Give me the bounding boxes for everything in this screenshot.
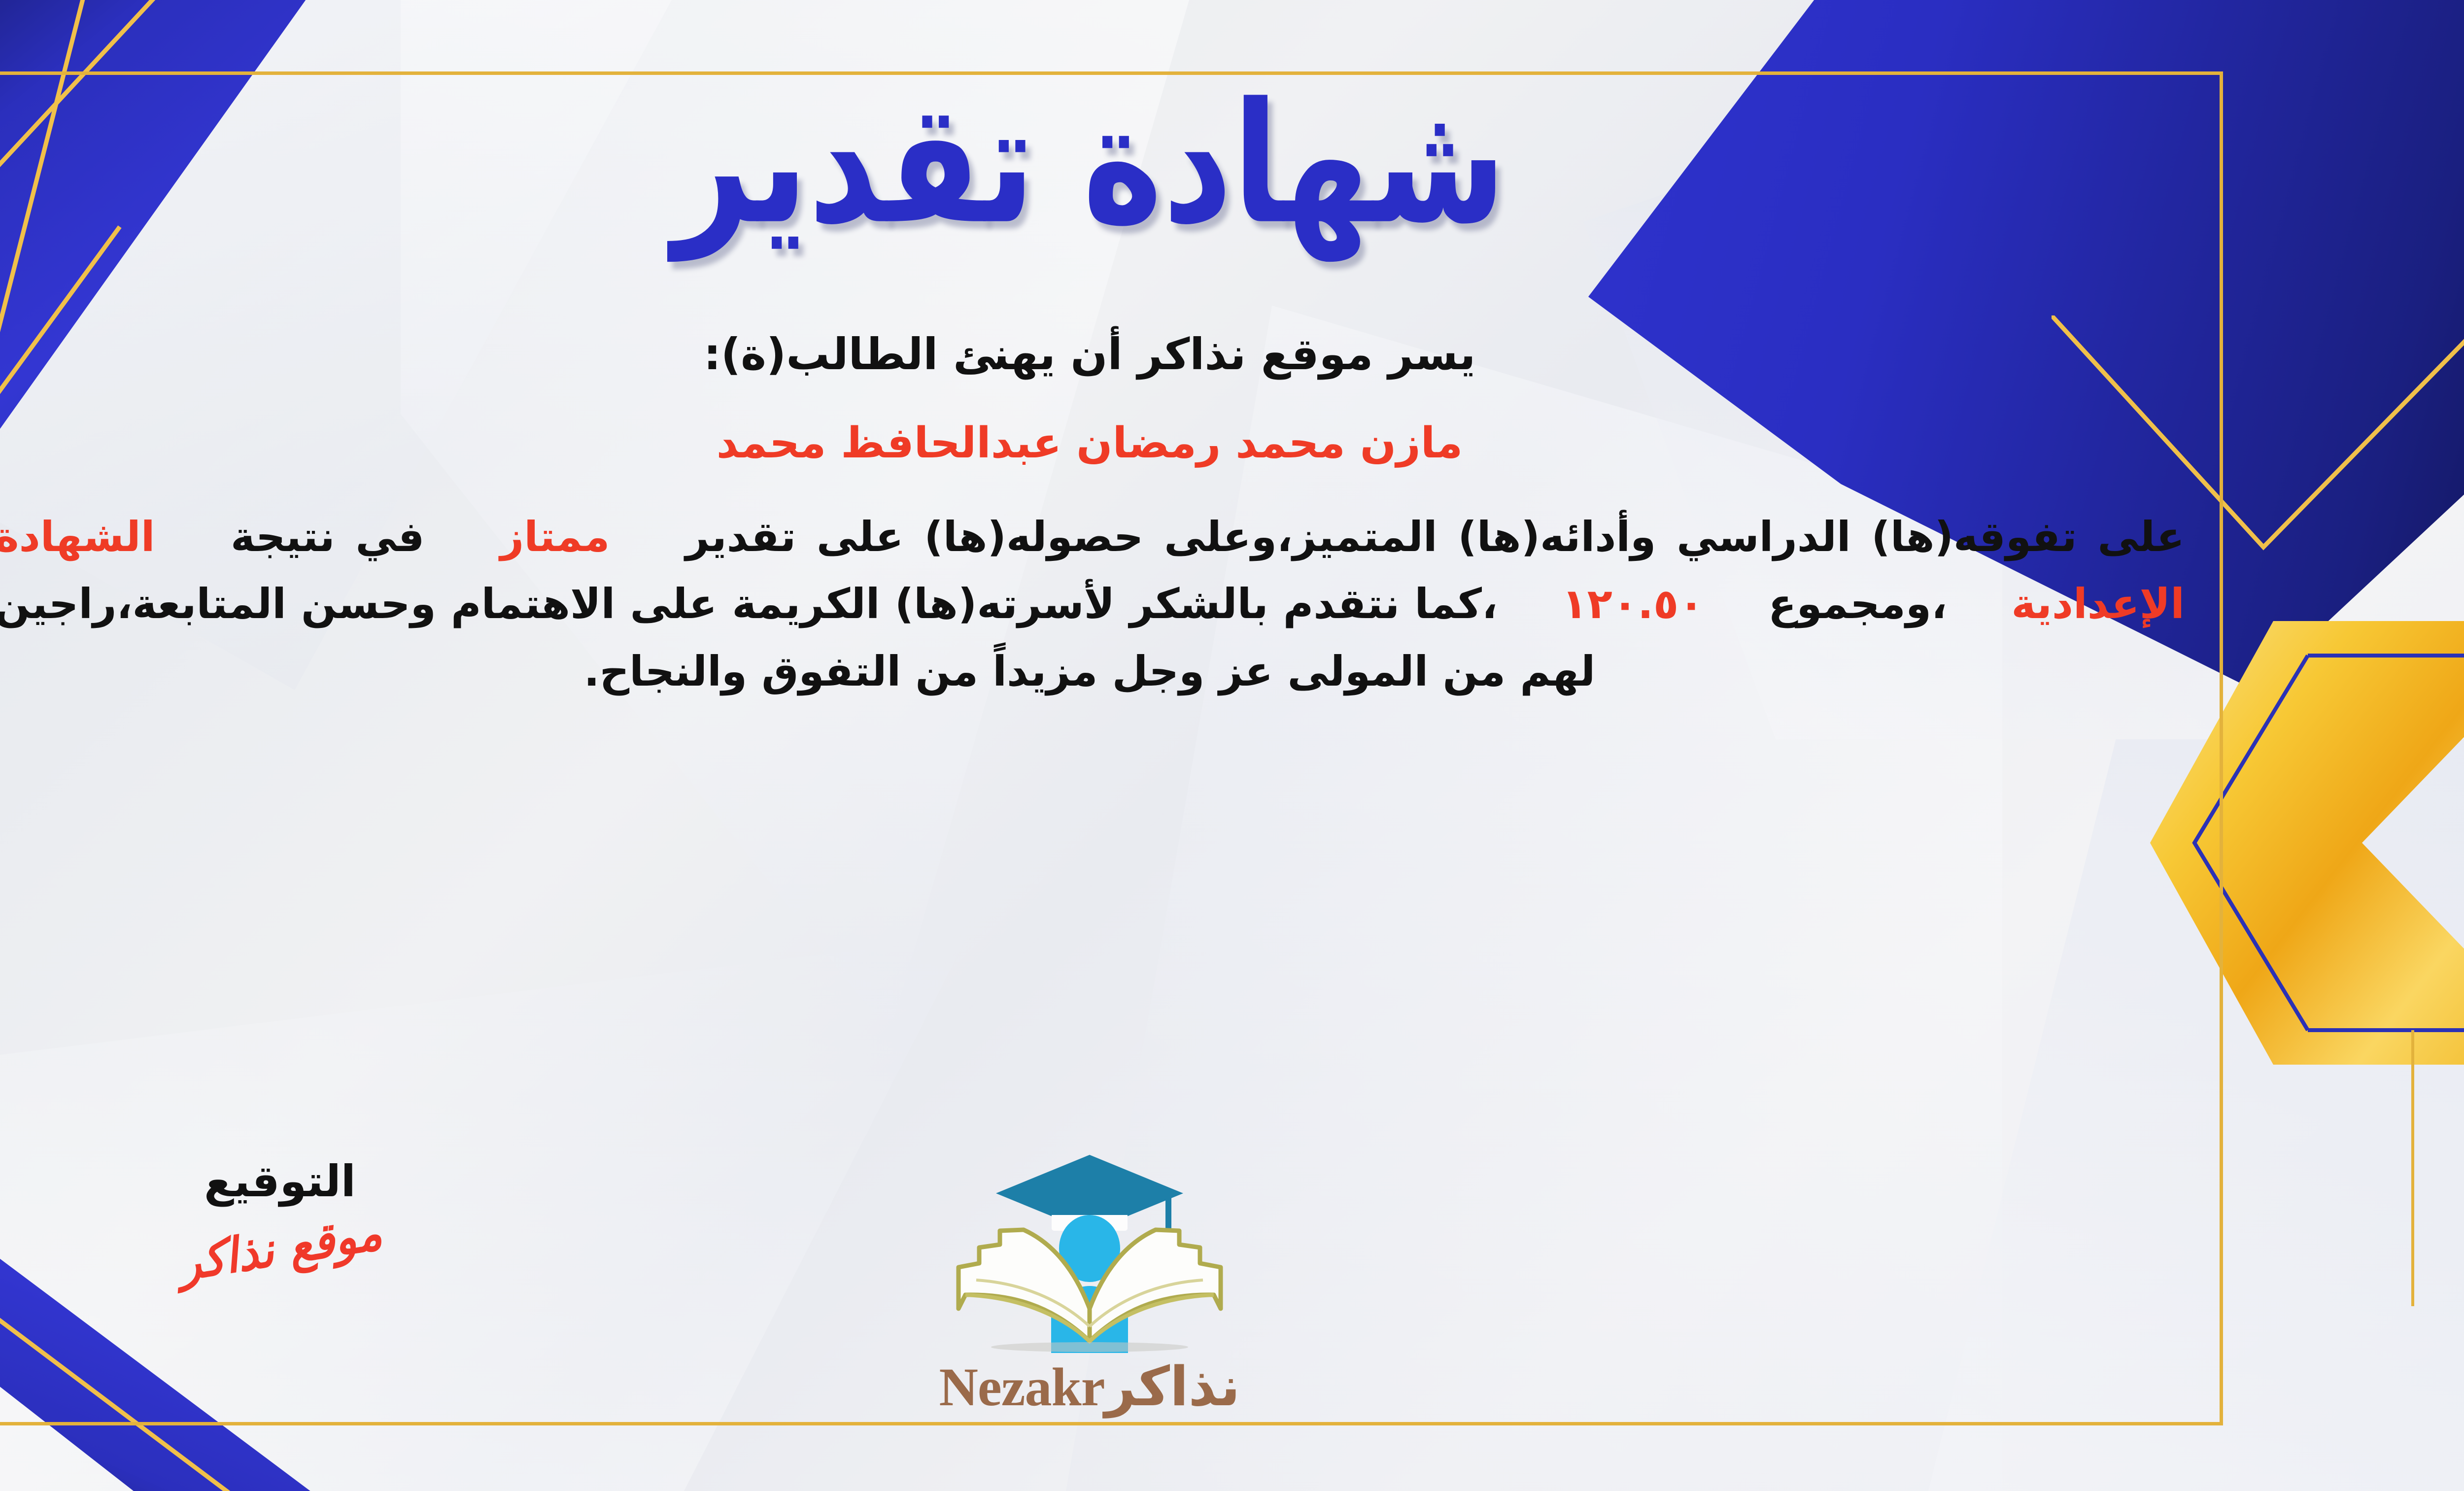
graduate-book-logo-icon xyxy=(937,1146,1242,1353)
paragraph-part-2: في نتيجة xyxy=(231,513,424,561)
student-name: مازن محمد رمضان عبدالحافظ محمد xyxy=(0,410,2193,477)
certificate-body: يسر موقع نذاكر أن يهنئ الطالب(ة): مازن م… xyxy=(0,320,2193,705)
achievement-paragraph: على تفوقه(ها) الدراسي وأدائه(ها) المتميز… xyxy=(0,503,2193,704)
paragraph-part-3: ،ومجموع xyxy=(1768,580,1947,628)
certificate-content: شهادة تقدير يسر موقع نذاكر أن يهنئ الطال… xyxy=(0,71,2220,1422)
certificate-canvas: شهادة تقدير يسر موقع نذاكر أن يهنئ الطال… xyxy=(0,0,2464,1491)
frame-line-bottom xyxy=(0,1422,2223,1425)
grade-value: ممتاز xyxy=(500,513,610,561)
site-logo: نذاكرNezakr xyxy=(843,1146,1336,1419)
signature-mark: موقع نذاكر xyxy=(174,1204,385,1291)
greeting-line: يسر موقع نذاكر أن يهنئ الطالب(ة): xyxy=(0,320,2193,388)
frame-line-right xyxy=(2220,71,2223,1425)
logo-name-latin: Nezakr xyxy=(939,1357,1104,1417)
certificate-footer: التوقيع موقع نذاكر xyxy=(0,1146,2220,1422)
certificate-title: شهادة تقدير xyxy=(673,76,1506,251)
logo-name-arabic: نذاكر xyxy=(1105,1355,1240,1418)
paragraph-part-4: ،كما نتقدم بالشكر لأسرته(ها) الكريمة على… xyxy=(0,580,1595,695)
signature-block: التوقيع موقع نذاكر xyxy=(58,1156,502,1275)
total-score: ١٢٠.٥٠ xyxy=(1562,580,1704,628)
logo-wordmark: نذاكرNezakr xyxy=(843,1355,1336,1419)
right-gold-vertical-line xyxy=(2411,1030,2414,1306)
paragraph-part-1: على تفوقه(ها) الدراسي وأدائه(ها) المتميز… xyxy=(685,513,2185,561)
signature-label: التوقيع xyxy=(58,1156,502,1207)
